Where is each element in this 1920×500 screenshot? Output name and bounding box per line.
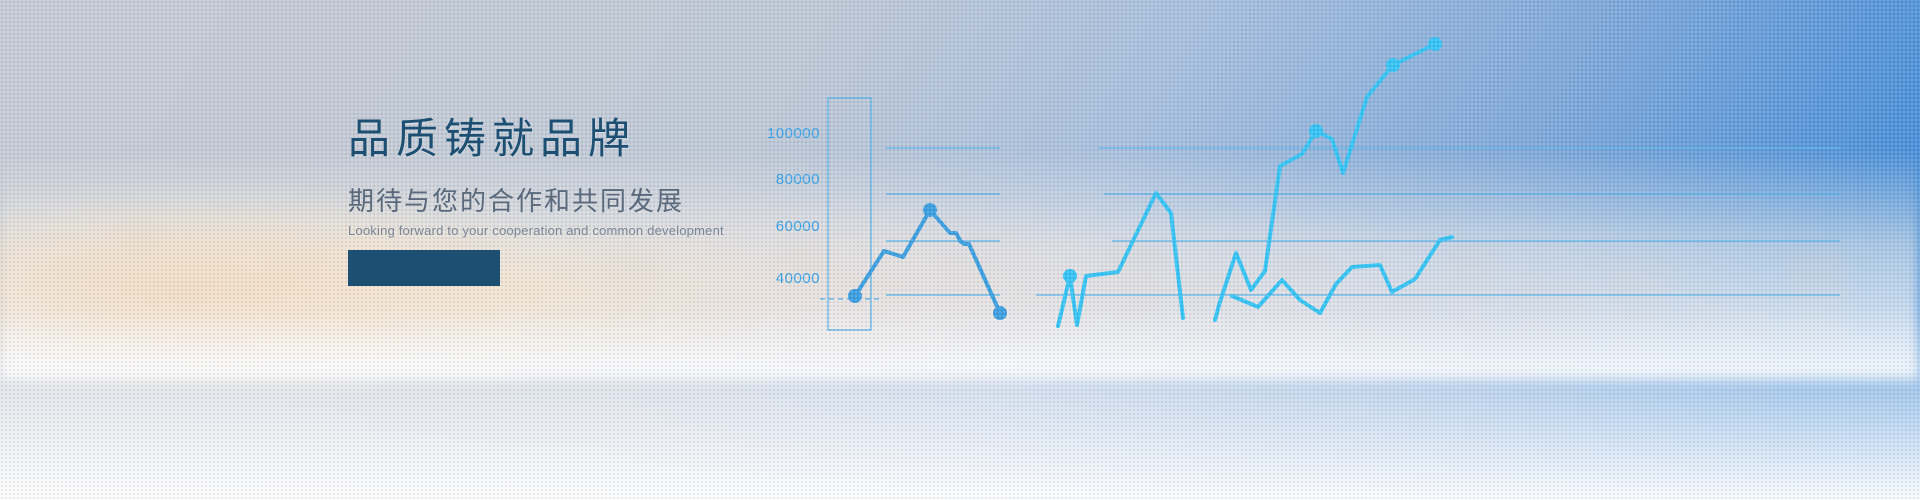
page-subtitle: 期待与您的合作和共同发展 [348,188,768,214]
halftone-dot-overlay [0,0,1920,500]
page-subtitle-en: Looking forward to your cooperation and … [348,224,768,237]
hero-banner: 100000800006000040000 品质铸就品牌 期待与您的合作和共同发… [0,0,1920,500]
page-title: 品质铸就品牌 [348,118,768,160]
hero-copy-block: 品质铸就品牌 期待与您的合作和共同发展 Looking forward to y… [348,118,768,237]
cta-button[interactable] [348,250,500,286]
